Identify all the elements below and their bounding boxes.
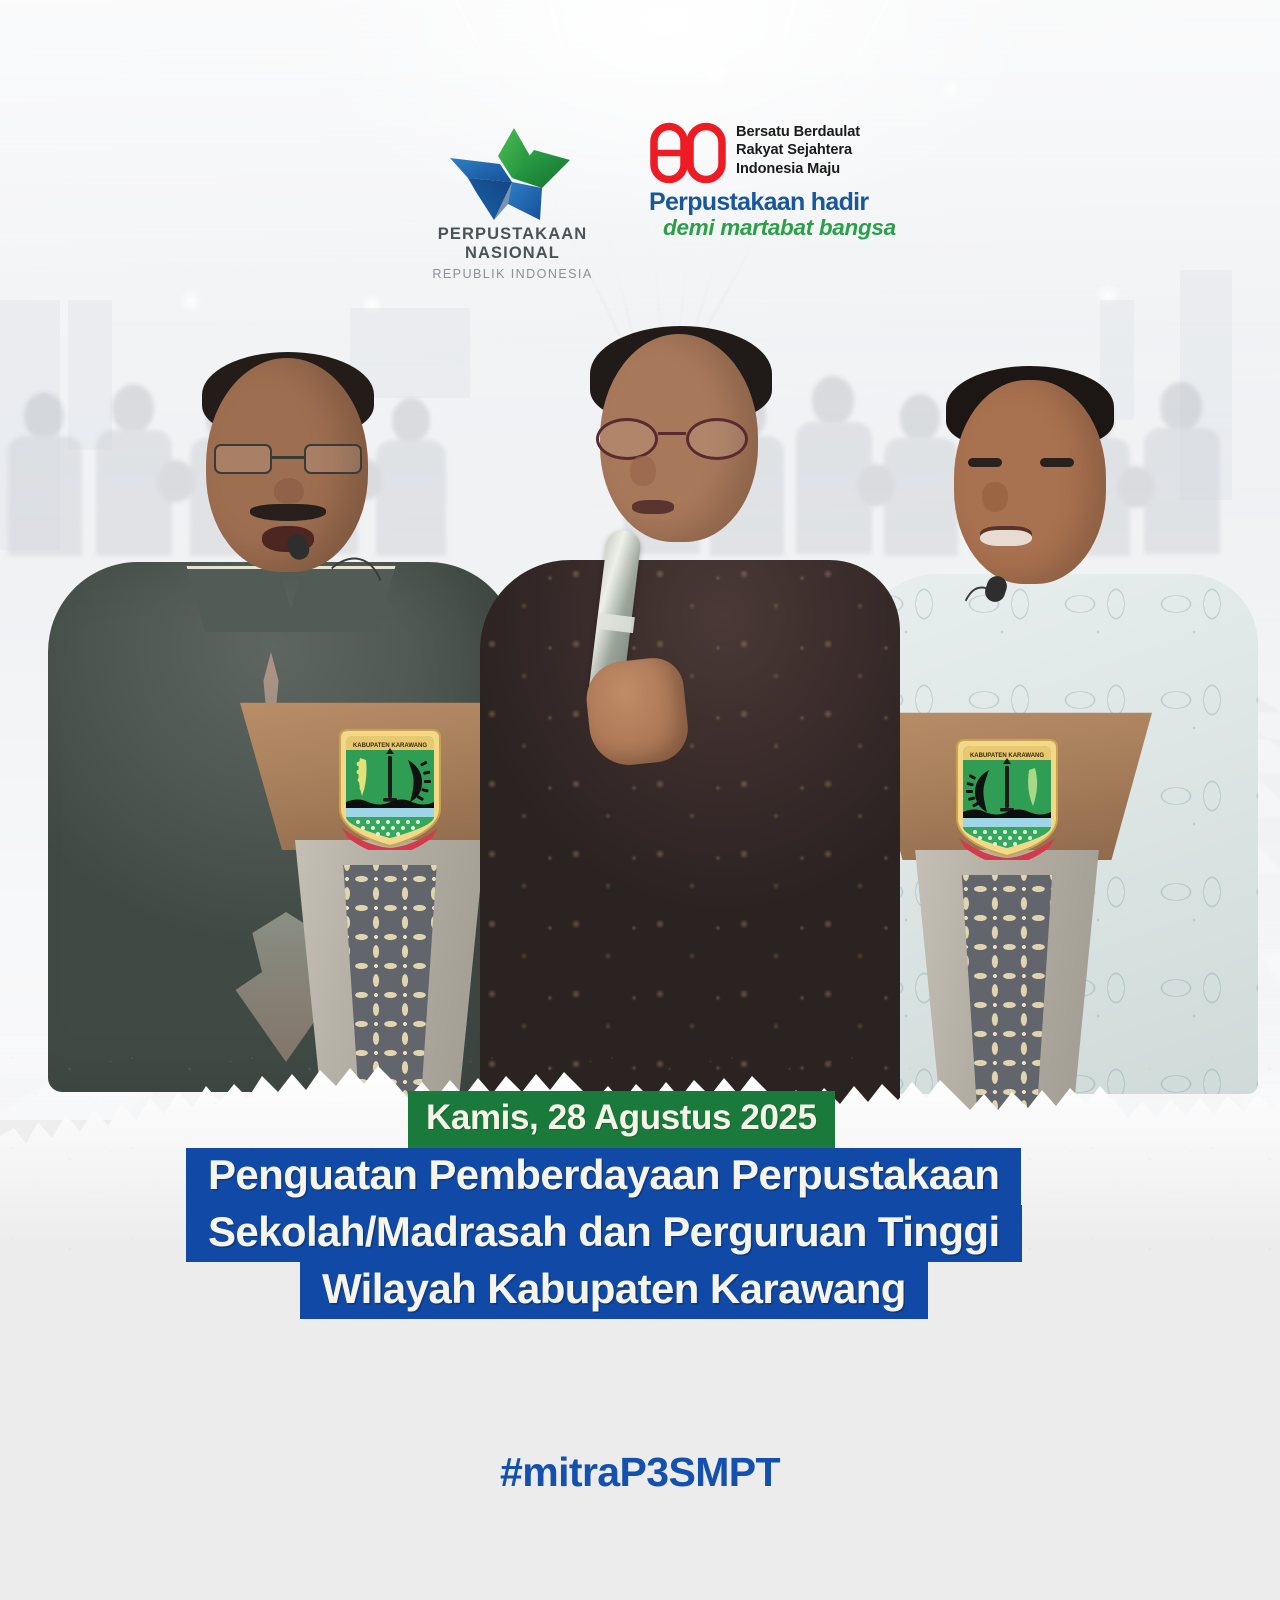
event-hashtag: #mitraP3SMPT — [0, 1449, 1280, 1496]
speaker-right-eye — [968, 458, 1002, 467]
svg-text:KABUPATEN KARAWANG: KABUPATEN KARAWANG — [353, 743, 427, 749]
speaker-right-nose — [982, 482, 1008, 512]
speaker-left-mustache — [250, 504, 326, 521]
speaker-left-nose — [274, 478, 304, 504]
speaker-center-eyeglasses-icon — [596, 418, 748, 460]
event-title-line-2: Sekolah/Madrasah dan Perguruan Tinggi — [186, 1205, 1022, 1262]
karawang-emblem-icon: KABUPATEN KARAWANG — [951, 734, 1063, 860]
speaker-right-eye — [1040, 458, 1074, 467]
svg-text:KABUPATEN KARAWANG: KABUPATEN KARAWANG — [970, 753, 1044, 759]
event-title-line-1: Penguatan Pemberdayaan Perpustakaan — [186, 1148, 1021, 1205]
speaker-center — [480, 330, 900, 1120]
speaker-center-nose — [630, 456, 656, 486]
karawang-emblem-icon: KABUPATEN KARAWANG — [334, 724, 446, 850]
event-title-block: Penguatan Pemberdayaan Perpustakaan Seko… — [0, 1148, 1280, 1319]
speaker-right-face — [954, 380, 1106, 584]
speaker-center-batik-pattern — [480, 560, 900, 1120]
speaker-center-mouth — [632, 500, 674, 514]
speaker-left-collar — [187, 566, 298, 632]
poster-canvas: PERPUSTAKAAN NASIONAL REPUBLIK INDONESIA… — [0, 0, 1280, 1600]
speaker-center-hand — [583, 655, 691, 769]
event-title-line-3: Wilayah Kabupaten Karawang — [300, 1262, 928, 1319]
event-date-badge: Kamis, 28 Agustus 2025 — [408, 1091, 835, 1148]
speaker-right-mouth — [980, 526, 1032, 546]
speaker-left-eyeglasses-icon — [214, 444, 362, 474]
